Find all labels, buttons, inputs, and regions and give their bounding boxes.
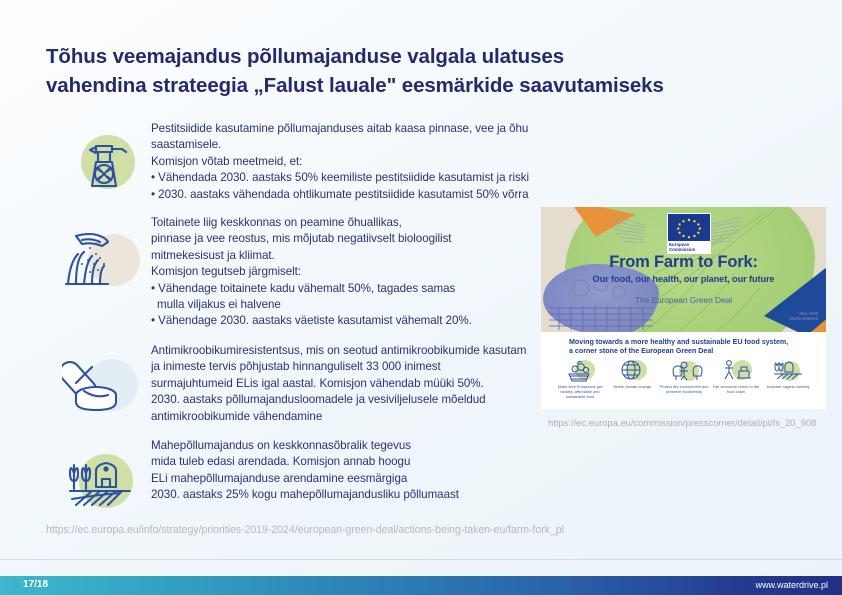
page-title-line-2: vahendina strateegia „Falust lauale" ees… — [46, 71, 746, 100]
website-link[interactable]: www.waterdrive.pl — [755, 580, 828, 590]
pills-capsule-icon — [62, 343, 148, 429]
body-line: • Vähendada 2030. aastaks 50% keemiliste… — [151, 170, 529, 186]
poster-goal-item: Make sure Europeans get healthy, afforda… — [555, 358, 605, 400]
body-line: surmajuhtumeid ELis igal aastal. Komisjo… — [151, 376, 549, 392]
poster-goal-list: Make sure Europeans get healthy, afforda… — [555, 358, 813, 400]
poster-body-heading-line-2: a corner stone of the European Green Dea… — [569, 347, 809, 356]
fertilizer-hand-grass-icon — [62, 218, 148, 304]
eu-stars-icon — [668, 214, 710, 242]
page-title: Tõhus veemajandus põllumajanduse valgala… — [46, 42, 746, 100]
poster-source-url[interactable]: https://ec.europa.eu/commission/presscor… — [548, 417, 816, 428]
poster-body-heading: Moving towards a more healthy and sustai… — [569, 338, 809, 357]
organic-farm-barn-icon — [62, 443, 148, 529]
poster-hero-title: From Farm to Fork: — [541, 253, 826, 272]
poster-green-deal-text: The European Green Deal — [541, 295, 826, 305]
slide-root: Tõhus veemajandus põllumajanduse valgala… — [0, 0, 842, 595]
body-line: Komisjon võtab meetmeid, et: — [151, 154, 529, 170]
poster-hero-subtitle: Our food, our health, our planet, our fu… — [541, 274, 826, 284]
body-line: • Vähendage 2030. aastaks väetiste kasut… — [151, 313, 472, 329]
poster-goal-caption: Fair economic return in the food chain — [711, 385, 761, 395]
body-line: Antimikroobikumiresistentsus, mis on seo… — [151, 343, 549, 359]
poster-goal-item: Tackle climate change — [607, 358, 657, 400]
body-line: Mahepõllumajandus on keskkonnasõbralik t… — [151, 438, 459, 454]
body-line: mida tuleb edasi arendada. Komisjon anna… — [151, 454, 459, 470]
globe-climate-icon — [607, 358, 657, 382]
poster-goal-caption: Increase organic farming — [763, 385, 813, 390]
healthy-food-basket-icon — [555, 358, 605, 382]
fair-economic-return-icon — [711, 358, 761, 382]
body-line: • Vähendage toitainete kadu vähemalt 50%… — [151, 281, 472, 297]
body-line: 2030. aastaks 25% kogu mahepõllumajandus… — [151, 487, 459, 503]
body-block-1: Pestitsiidide kasutamine põllumajanduses… — [151, 121, 529, 203]
body-line: saastamisele. — [151, 137, 529, 153]
body-line: Toitainete liig keskkonnas on peamine õh… — [151, 215, 472, 231]
eu-logo-fan-right — [707, 215, 743, 249]
body-line: antimikroobikumide vähendamine — [151, 409, 549, 425]
european-commission-logo: European Commission — [645, 211, 719, 255]
eu-flag-box — [667, 213, 711, 243]
farm-to-fork-poster-image: European Commission From Farm to Fork: O… — [541, 207, 826, 409]
poster-goal-item: Protect the environment and preserve bio… — [659, 358, 709, 400]
body-line: Pestitsiidide kasutamine põllumajanduses… — [151, 121, 529, 137]
page-number: 17/18 — [23, 579, 48, 590]
body-block-3: Antimikroobikumiresistentsus, mis on seo… — [151, 343, 549, 425]
body-block-4: Mahepõllumajandus on keskkonnasõbralik t… — [151, 438, 459, 504]
page-title-line-1: Tõhus veemajandus põllumajanduse valgala… — [46, 42, 746, 71]
body-line: ELi mahepõllumajanduse arendamine eesmär… — [151, 471, 459, 487]
footer-divider — [0, 559, 842, 560]
organic-farming-icon — [763, 358, 813, 382]
eu-logo-caption-line-2: Commission — [669, 247, 709, 252]
poster-hashtag: #EUGreenDeal — [789, 316, 818, 321]
body-line: pinnase ja vee reostus, mis mõjutab nega… — [151, 231, 472, 247]
poster-goal-caption: Tackle climate change — [607, 385, 657, 390]
body-line: mulla viljakus ei halvene — [151, 297, 472, 313]
eu-logo-caption: European Commission — [667, 241, 711, 254]
poster-goal-item: Fair economic return in the food chain — [711, 358, 761, 400]
poster-body: Moving towards a more healthy and sustai… — [541, 332, 826, 409]
poster-goal-caption: Make sure Europeans get healthy, afforda… — [555, 385, 605, 400]
eu-logo-fan-left — [611, 215, 647, 249]
bottom-bar: 17/18 www.waterdrive.pl — [0, 576, 842, 595]
body-line: mitmekesisust ja kliimat. — [151, 248, 472, 264]
footer-source-url[interactable]: https://ec.europa.eu/info/strategy/prior… — [46, 524, 564, 536]
body-line: Komisjon tegutseb järgmiselt: — [151, 264, 472, 280]
pesticide-sprayer-icon — [62, 122, 148, 208]
body-line: ja inimeste tervis põhjustab hinnangulis… — [151, 359, 549, 375]
body-line: • 2030. aastaks vähendada ohtlikumate pe… — [151, 187, 529, 203]
poster-goal-item: Increase organic farming — [763, 358, 813, 400]
poster-hero: European Commission From Farm to Fork: O… — [541, 207, 826, 332]
environment-biodiversity-icon — [659, 358, 709, 382]
body-block-2: Toitainete liig keskkonnas on peamine õh… — [151, 215, 472, 330]
poster-goal-caption: Protect the environment and preserve bio… — [659, 385, 709, 395]
poster-date-hashtag: May 2020 #EUGreenDeal — [789, 311, 818, 321]
poster-body-heading-line-1: Moving towards a more healthy and sustai… — [569, 338, 809, 347]
body-line: 2030. aastaks põllumajandusloomadele ja … — [151, 392, 549, 408]
